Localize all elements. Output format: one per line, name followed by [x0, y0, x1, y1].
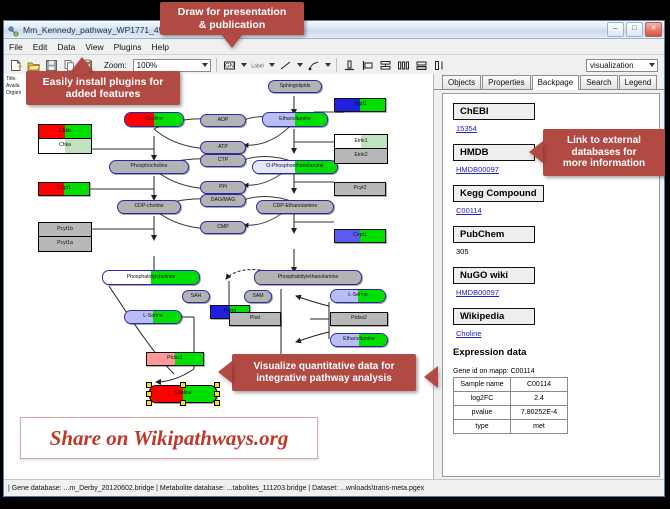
zoom-label: Zoom: [104, 61, 127, 70]
chevron-down-icon-datanode[interactable] [241, 63, 247, 67]
common-height-icon[interactable] [432, 58, 447, 73]
gene-node-chpt1[interactable]: Chpt1 [38, 182, 90, 196]
cell-value: 2.4 [511, 392, 568, 406]
menu-item-data[interactable]: Data [57, 42, 75, 52]
gene-id-on-mapp: Gene id on mapp: C00114 [453, 368, 659, 375]
cell-key: type [454, 420, 511, 434]
callout-visualize: Visualize quantitative data for integrat… [232, 354, 416, 391]
metabolite-node-ppi[interactable]: PPi [200, 181, 246, 194]
callout-link: Link to external databases for more info… [543, 129, 665, 176]
visualization-combobox[interactable]: visualization [586, 59, 658, 72]
callout-visualize-arrow-icon [218, 361, 232, 383]
gene-node-pcyt1b[interactable]: Pcyt1b [39, 223, 91, 237]
svg-text:GN: GN [225, 63, 234, 69]
window-controls: – □ ✕ [607, 22, 662, 37]
menu-item-file[interactable]: File [9, 42, 23, 52]
callout-plugins-line2: added features [66, 88, 141, 100]
db-header-wikipedia: Wikipedia [453, 308, 535, 325]
db-value-pubchem: 305 [456, 247, 659, 256]
gene-group-etnk[interactable]: Etnk1 Etnk2 [334, 134, 388, 164]
metabolite-node-choline-top[interactable]: Choline [124, 112, 184, 127]
selection-handle-se[interactable] [214, 400, 220, 406]
node-label: Ptdss2 [351, 316, 367, 321]
db-header-hmdb: HMDB [453, 144, 535, 161]
node-label: DAG/MAG [211, 198, 236, 203]
selection-handle-nw[interactable] [146, 382, 152, 388]
callout-visualize-line1: Visualize quantitative data for [254, 361, 395, 373]
metabolite-node-dagmag[interactable]: DAG/MAG [200, 194, 246, 207]
callout-draw-line2: & publication [199, 19, 266, 31]
node-label: Etnk2 [354, 153, 367, 158]
db-link-kegg[interactable]: C00114 [456, 206, 659, 215]
metabolite-node-o-phosphoethanolamine[interactable]: O-Phosphoethanolamine [252, 160, 338, 174]
node-label: SAH [191, 294, 202, 299]
node-label: O-Phosphoethanolamine [266, 164, 323, 169]
tab-search[interactable]: Search [580, 75, 617, 89]
node-label: Ptdss1 [167, 356, 183, 361]
node-label: Phosphatidylcholines [127, 275, 176, 280]
node-label: CDP-Ethanolamine [273, 204, 317, 209]
gene-group-pcyt1[interactable]: Pcyt1b Pcyt1a [38, 222, 92, 252]
callout-plugins-arrow-stem [75, 66, 89, 74]
side-panel-tabs: Objects Properties Backpage Search Legen… [434, 74, 664, 90]
gene-node-ptdss2[interactable]: Ptdss2 [330, 312, 388, 326]
tab-properties[interactable]: Properties [482, 75, 530, 89]
zoom-combobox[interactable]: 100% [133, 59, 211, 72]
stack-icon[interactable] [378, 58, 393, 73]
cell-key: pvalue [454, 406, 511, 420]
node-label: Pisd [250, 316, 260, 321]
metabolite-node-cdp-choline[interactable]: CDP-choline [117, 200, 181, 214]
table-row: type met [454, 420, 568, 434]
db-link-nugowiki[interactable]: HMDB00097 [456, 288, 659, 297]
table-row: log2FC 2.4 [454, 392, 568, 406]
metabolite-node-ethanolamine-top[interactable]: Ethanolamine [262, 112, 328, 127]
node-label: Sgpl1 [353, 102, 366, 107]
align-left-icon[interactable] [360, 58, 375, 73]
label-icon[interactable]: Label [250, 58, 265, 73]
expression-data-heading: Expression data [453, 347, 659, 358]
db-header-pubchem: PubChem [453, 226, 535, 243]
callout-link-line2: databases for [571, 147, 636, 159]
gene-node-pcyt2[interactable]: Pcyt2 [334, 182, 386, 196]
interaction-icon[interactable] [306, 58, 321, 73]
visualization-value: visualization [590, 61, 634, 70]
node-label: Choline [145, 117, 163, 122]
gene-node-pcyt1a[interactable]: Pcyt1a [39, 237, 91, 251]
node-label: PPi [219, 185, 227, 190]
distribute-icon[interactable] [396, 58, 411, 73]
metabolite-node-phosphatidylcholines[interactable]: Phosphatidylcholines [102, 270, 200, 285]
node-label: Chka [59, 143, 71, 148]
node-label: CDP-choline [134, 204, 163, 209]
menu-item-plugins[interactable]: Plugins [114, 42, 142, 52]
node-label: ADP [218, 118, 229, 123]
align-top-icon[interactable] [342, 58, 357, 73]
db-header-nugowiki: NuGO wiki [453, 267, 535, 284]
gene-node-etnk1[interactable]: Etnk1 [335, 135, 387, 149]
db-link-wikipedia[interactable]: Choline [456, 329, 659, 338]
node-label: Phosphocholine [131, 164, 168, 169]
node-label: ATP [218, 145, 228, 150]
datanode-icon[interactable]: GN [222, 58, 237, 73]
menu-item-edit[interactable]: Edit [33, 42, 48, 52]
callout-draw: Draw for presentation & publication [160, 2, 304, 35]
table-row: pvalue 7.80252E-4 [454, 406, 568, 420]
metabolite-node-sah[interactable]: SAH [182, 290, 210, 303]
title-bar: Mm_Kennedy_pathway_WP1771_45176.gpml – □… [4, 21, 664, 39]
screenshot-root: Mm_Kennedy_pathway_WP1771_45176.gpml – □… [0, 0, 670, 509]
selection-handle-sw[interactable] [146, 400, 152, 406]
menu-bar: File Edit Data View Plugins Help [4, 39, 664, 55]
menu-item-help[interactable]: Help [152, 42, 169, 52]
expression-table: Sample name C00114 log2FC 2.4 pvalue 7.8… [453, 377, 568, 434]
pathvisio-icon [8, 24, 19, 35]
node-label: Chkb [59, 129, 71, 134]
menu-item-view[interactable]: View [85, 42, 103, 52]
db-header-kegg: Kegg Compound [453, 185, 544, 202]
tab-backpage[interactable]: Backpage [532, 75, 580, 90]
node-label: L-Serine [143, 314, 163, 319]
chevron-down-icon-label[interactable] [269, 63, 275, 67]
callout-expression-arrow-icon [424, 366, 438, 388]
cell-value: C00114 [511, 378, 568, 392]
callout-link-line1: Link to external [567, 135, 641, 147]
gene-node-ptdss1[interactable]: Ptdss1 [146, 352, 204, 366]
selection-handle-w[interactable] [146, 391, 152, 397]
db-header-chebi: ChEBI [453, 103, 535, 120]
toolbar-separator [216, 58, 217, 72]
callout-share-text: Share on Wikipathways.org [50, 426, 289, 451]
tab-legend[interactable]: Legend [619, 75, 658, 89]
gene-node-chka[interactable]: Chka [39, 139, 91, 153]
node-label: CTP [218, 158, 228, 163]
selection-handle-n[interactable] [180, 382, 186, 388]
selection-handle-s[interactable] [180, 400, 186, 406]
metabolite-node-l-serine-right[interactable]: L-Serine [330, 289, 386, 303]
node-label: Etnk1 [354, 139, 367, 144]
node-label: Sphingolipids [280, 84, 311, 89]
node-label: Cept1 [353, 233, 367, 238]
selection-handle-e[interactable] [214, 391, 220, 397]
metabolite-node-sphingolipids[interactable]: Sphingolipids [268, 80, 322, 93]
status-bar: | Gene database: ...m_Derby_20120602.bri… [4, 479, 664, 496]
node-label: L-Serine [348, 293, 368, 298]
cell-key: log2FC [454, 392, 511, 406]
callout-draw-line1: Draw for presentation [178, 6, 287, 18]
tab-objects[interactable]: Objects [442, 75, 481, 89]
close-button[interactable]: ✕ [645, 22, 662, 37]
node-label: Ethanolamine [279, 117, 311, 122]
svg-text:Label: Label [251, 63, 263, 69]
node-label: Pcyt1a [57, 241, 73, 246]
metabolite-node-adp[interactable]: ADP [200, 114, 246, 127]
gene-node-cept1[interactable]: Cept1 [334, 229, 386, 243]
line-icon[interactable] [278, 58, 293, 73]
minimize-button[interactable]: – [607, 22, 624, 37]
gene-node-sgpl1[interactable]: Sgpl1 [334, 98, 386, 112]
node-label: CMP [217, 225, 229, 230]
callout-draw-arrow-icon [221, 34, 243, 48]
cell-key: Sample name [454, 378, 511, 392]
metabolite-node-ctp[interactable]: CTP [200, 154, 246, 167]
node-label: SAM [252, 294, 263, 299]
metabolite-node-sam[interactable]: SAM [244, 290, 272, 303]
gene-node-pisd[interactable]: Pisd [229, 312, 281, 326]
cell-value: 7.80252E-4 [511, 406, 568, 420]
callout-link-line3: more information [563, 158, 645, 170]
callout-link-arrow-icon [529, 141, 543, 163]
node-label: Chpt1 [57, 186, 71, 191]
gene-node-chkb[interactable]: Chkb [39, 125, 91, 139]
callout-plugins-line1: Easily install plugins for [43, 76, 164, 88]
chevron-down-icon [202, 63, 208, 67]
chevron-down-icon-interaction[interactable] [325, 63, 331, 67]
node-label: Ethanolamine [343, 337, 375, 342]
gene-group-chk[interactable]: Chkb Chka [38, 124, 92, 154]
common-width-icon[interactable] [414, 58, 429, 73]
metabolite-node-phosphatidylethanolamine[interactable]: Phosphatidylethanolamine [254, 270, 362, 285]
zoom-value: 100% [137, 61, 157, 70]
metabolite-node-cdp-ethanolamine[interactable]: CDP-Ethanolamine [256, 200, 334, 214]
selection-group[interactable]: Choline [149, 385, 217, 403]
status-text: | Gene database: ...m_Derby_20120602.bri… [4, 485, 424, 492]
callout-visualize-line2: integrative pathway analysis [256, 373, 392, 385]
table-row: Sample name C00114 [454, 378, 568, 392]
gene-node-etnk2[interactable]: Etnk2 [335, 149, 387, 163]
chevron-down-icon-visualization [649, 63, 655, 67]
cell-value: met [511, 420, 568, 434]
metabolite-node-cmp[interactable]: CMP [200, 221, 246, 234]
chevron-down-icon-line[interactable] [297, 63, 303, 67]
new-file-icon[interactable] [8, 58, 23, 73]
metabolite-node-atp[interactable]: ATP [200, 141, 246, 154]
metabolite-node-ethanolamine-bottom[interactable]: Ethanolamine [330, 333, 388, 347]
toolbar-separator-2 [336, 58, 337, 72]
callout-share: Share on Wikipathways.org [20, 417, 318, 459]
callout-plugins: Easily install plugins for added feature… [26, 71, 180, 105]
metabolite-node-l-serine-left[interactable]: L-Serine [124, 310, 182, 324]
node-label: Pcyt2 [354, 186, 367, 191]
node-label: Choline [174, 391, 192, 396]
node-label: Phosphatidylethanolamine [278, 275, 339, 280]
maximize-button[interactable]: □ [626, 22, 643, 37]
node-label: Pcyt1b [57, 227, 73, 232]
metabolite-node-phosphocholine[interactable]: Phosphocholine [109, 160, 189, 174]
